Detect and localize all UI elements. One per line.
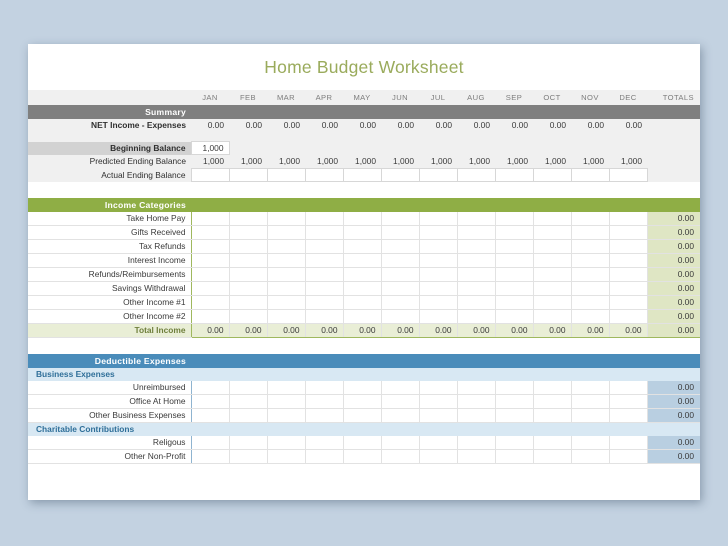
- income-input-feb[interactable]: [229, 268, 267, 282]
- income-input-aug[interactable]: [457, 296, 495, 310]
- summary-cell-jan[interactable]: [191, 169, 229, 182]
- income-input-nov[interactable]: [571, 268, 609, 282]
- summary-cell-mar: 0.00: [267, 119, 305, 132]
- income-row-total: 0.00: [647, 240, 700, 254]
- income-input-apr[interactable]: [305, 282, 343, 296]
- income-input-mar[interactable]: [267, 296, 305, 310]
- spacer-cell: [647, 182, 700, 199]
- income-input-jan[interactable]: [191, 212, 229, 226]
- income-input-may[interactable]: [343, 254, 381, 268]
- income-input-feb[interactable]: [229, 240, 267, 254]
- spacer-cell: [305, 132, 343, 142]
- expense-input-jan[interactable]: [191, 395, 229, 409]
- summary-cell-may: [343, 142, 381, 155]
- expense-input-mar[interactable]: [267, 450, 305, 464]
- spacer-cell: [533, 132, 571, 142]
- expense-subheader-row: Charitable Contributions: [28, 423, 700, 437]
- income-input-nov[interactable]: [571, 296, 609, 310]
- summary-cell-feb[interactable]: [229, 169, 267, 182]
- summary-cell-mar[interactable]: [267, 169, 305, 182]
- expense-input-may[interactable]: [343, 409, 381, 423]
- expense-row-total: 0.00: [647, 395, 700, 409]
- income-input-apr[interactable]: [305, 296, 343, 310]
- expense-input-sep[interactable]: [495, 450, 533, 464]
- expense-input-nov[interactable]: [571, 409, 609, 423]
- summary-cell-feb: 0.00: [229, 119, 267, 132]
- summary-cell-total: [647, 142, 700, 155]
- income-input-oct[interactable]: [533, 212, 571, 226]
- income-input-mar[interactable]: [267, 268, 305, 282]
- expense-input-aug[interactable]: [457, 395, 495, 409]
- income-input-jan[interactable]: [191, 282, 229, 296]
- expense-input-apr[interactable]: [305, 381, 343, 395]
- section-header-fill: [647, 105, 700, 119]
- page-title: Home Budget Worksheet: [264, 57, 463, 78]
- expense-input-jan[interactable]: [191, 436, 229, 450]
- income-input-dec[interactable]: [609, 212, 647, 226]
- income-input-may[interactable]: [343, 212, 381, 226]
- spacer-cell: [381, 338, 419, 355]
- income-input-sep[interactable]: [495, 226, 533, 240]
- income-input-oct[interactable]: [533, 296, 571, 310]
- income-input-apr[interactable]: [305, 226, 343, 240]
- income-input-oct[interactable]: [533, 282, 571, 296]
- income-input-feb[interactable]: [229, 282, 267, 296]
- income-input-jan[interactable]: [191, 310, 229, 324]
- expense-input-jun[interactable]: [381, 381, 419, 395]
- expense-subheader-fill: [191, 368, 229, 381]
- expense-subheader-fill: [419, 368, 457, 381]
- income-input-apr[interactable]: [305, 212, 343, 226]
- section-header-fill: [229, 105, 267, 119]
- income-input-dec[interactable]: [609, 282, 647, 296]
- column-header-apr: APR: [305, 90, 343, 105]
- expense-input-nov[interactable]: [571, 450, 609, 464]
- income-input-dec[interactable]: [609, 296, 647, 310]
- summary-row-label: NET Income - Expenses: [28, 119, 191, 132]
- income-input-feb[interactable]: [229, 254, 267, 268]
- summary-cell-aug[interactable]: [457, 169, 495, 182]
- income-input-may[interactable]: [343, 226, 381, 240]
- income-input-jan[interactable]: [191, 254, 229, 268]
- income-input-jan[interactable]: [191, 268, 229, 282]
- income-input-jun[interactable]: [381, 240, 419, 254]
- income-input-aug[interactable]: [457, 240, 495, 254]
- section-header-fill: [571, 354, 609, 368]
- income-input-may[interactable]: [343, 310, 381, 324]
- section-header-fill: [495, 354, 533, 368]
- expense-input-sep[interactable]: [495, 409, 533, 423]
- spacer-cell: [457, 338, 495, 355]
- income-row-label: Take Home Pay: [28, 212, 191, 226]
- summary-cell-aug: [457, 142, 495, 155]
- summary-cell-oct[interactable]: [533, 169, 571, 182]
- income-input-jun[interactable]: [381, 268, 419, 282]
- income-total-mar: 0.00: [267, 324, 305, 338]
- section-header-fill: [305, 198, 343, 212]
- summary-cell-mar: [267, 142, 305, 155]
- expense-input-sep[interactable]: [495, 395, 533, 409]
- expense-input-nov[interactable]: [571, 381, 609, 395]
- section-spacer: [28, 338, 700, 355]
- expense-input-jun[interactable]: [381, 395, 419, 409]
- income-row-total: 0.00: [647, 268, 700, 282]
- expense-input-feb[interactable]: [229, 381, 267, 395]
- expense-input-feb[interactable]: [229, 436, 267, 450]
- expense-row-label: Unreimbursed: [28, 381, 191, 395]
- spacer-cell: [609, 182, 647, 199]
- summary-cell-sep[interactable]: [495, 169, 533, 182]
- income-input-mar[interactable]: [267, 240, 305, 254]
- column-header-jun: JUN: [381, 90, 419, 105]
- expense-input-jun[interactable]: [381, 436, 419, 450]
- income-row: Gifts Received0.00: [28, 226, 700, 240]
- expense-input-oct[interactable]: [533, 450, 571, 464]
- expense-subheader-row: Business Expenses: [28, 368, 700, 381]
- income-row-total: 0.00: [647, 254, 700, 268]
- column-header-nov: NOV: [571, 90, 609, 105]
- spacer-cell: [191, 182, 229, 199]
- expense-input-nov[interactable]: [571, 436, 609, 450]
- expense-row-total: 0.00: [647, 381, 700, 395]
- income-row: Other Income #20.00: [28, 310, 700, 324]
- income-input-sep[interactable]: [495, 282, 533, 296]
- income-input-jul[interactable]: [419, 296, 457, 310]
- spacer-cell: [267, 182, 305, 199]
- income-input-jun[interactable]: [381, 212, 419, 226]
- expense-input-jan[interactable]: [191, 450, 229, 464]
- income-input-nov[interactable]: [571, 254, 609, 268]
- summary-cell-nov: 1,000: [571, 155, 609, 169]
- income-row-label: Refunds/Reimbursements: [28, 268, 191, 282]
- summary-cell-jul[interactable]: [419, 169, 457, 182]
- expense-row-total: 0.00: [647, 409, 700, 423]
- summary-cell-mar: 1,000: [267, 155, 305, 169]
- expense-input-apr[interactable]: [305, 436, 343, 450]
- expense-row: Office At Home0.00: [28, 395, 700, 409]
- income-input-oct[interactable]: [533, 268, 571, 282]
- income-input-jan[interactable]: [191, 226, 229, 240]
- summary-cell-feb: 1,000: [229, 155, 267, 169]
- summary-cell-nov: [571, 142, 609, 155]
- expense-row-label: Religous: [28, 436, 191, 450]
- income-input-may[interactable]: [343, 282, 381, 296]
- income-input-jul[interactable]: [419, 240, 457, 254]
- spacer-cell: [533, 182, 571, 199]
- expense-input-nov[interactable]: [571, 395, 609, 409]
- income-input-nov[interactable]: [571, 310, 609, 324]
- expense-input-oct[interactable]: [533, 395, 571, 409]
- expense-input-mar[interactable]: [267, 381, 305, 395]
- expense-input-apr[interactable]: [305, 409, 343, 423]
- section-header-fill: [419, 105, 457, 119]
- income-total-nov: 0.00: [571, 324, 609, 338]
- section-header-fill: [381, 105, 419, 119]
- spacer-cell: [609, 132, 647, 142]
- income-input-feb[interactable]: [229, 226, 267, 240]
- column-header-sep: SEP: [495, 90, 533, 105]
- expense-subheader-fill: [609, 368, 647, 381]
- summary-cell-jan[interactable]: 1,000: [191, 142, 229, 155]
- expense-subheader-fill: [533, 368, 571, 381]
- income-input-sep[interactable]: [495, 240, 533, 254]
- income-total-jan: 0.00: [191, 324, 229, 338]
- income-input-jul[interactable]: [419, 268, 457, 282]
- income-input-sep[interactable]: [495, 268, 533, 282]
- income-input-jul[interactable]: [419, 282, 457, 296]
- spacer-cell: [381, 132, 419, 142]
- expense-input-jul[interactable]: [419, 409, 457, 423]
- spacer-cell: [343, 338, 381, 355]
- section-header-fill: [647, 354, 700, 368]
- section-spacer: [28, 182, 700, 199]
- summary-cell-feb: [229, 142, 267, 155]
- expense-input-jan[interactable]: [191, 409, 229, 423]
- income-input-dec[interactable]: [609, 240, 647, 254]
- income-input-feb[interactable]: [229, 310, 267, 324]
- spacer-cell: [419, 338, 457, 355]
- spacer-cell: [267, 132, 305, 142]
- spacer-cell: [457, 182, 495, 199]
- expense-input-jun[interactable]: [381, 450, 419, 464]
- summary-row-label: Predicted Ending Balance: [28, 155, 191, 169]
- expense-row-total: 0.00: [647, 450, 700, 464]
- expense-input-mar[interactable]: [267, 409, 305, 423]
- income-input-nov[interactable]: [571, 226, 609, 240]
- income-input-apr[interactable]: [305, 254, 343, 268]
- summary-cell-total: [647, 155, 700, 169]
- section-header-fill: [343, 105, 381, 119]
- section-header-fill: [533, 198, 571, 212]
- section-header-summary-label: Summary: [28, 105, 191, 119]
- income-input-mar[interactable]: [267, 254, 305, 268]
- summary-row-predicted-ending-balance: Predicted Ending Balance1,0001,0001,0001…: [28, 155, 700, 169]
- income-total-jul: 0.00: [419, 324, 457, 338]
- income-input-nov[interactable]: [571, 240, 609, 254]
- summary-spacer: [28, 132, 700, 142]
- expense-input-jul[interactable]: [419, 381, 457, 395]
- expense-input-feb[interactable]: [229, 450, 267, 464]
- income-input-jun[interactable]: [381, 296, 419, 310]
- spacer-cell: [419, 182, 457, 199]
- income-input-sep[interactable]: [495, 296, 533, 310]
- column-header-jan: JAN: [191, 90, 229, 105]
- expense-input-may[interactable]: [343, 450, 381, 464]
- expense-input-aug[interactable]: [457, 381, 495, 395]
- income-row-total: 0.00: [647, 310, 700, 324]
- expense-row: Religous0.00: [28, 436, 700, 450]
- income-input-may[interactable]: [343, 268, 381, 282]
- income-input-sep[interactable]: [495, 254, 533, 268]
- income-total-may: 0.00: [343, 324, 381, 338]
- income-input-aug[interactable]: [457, 310, 495, 324]
- expense-input-oct[interactable]: [533, 381, 571, 395]
- expense-input-dec[interactable]: [609, 381, 647, 395]
- income-input-nov[interactable]: [571, 282, 609, 296]
- summary-cell-jun[interactable]: [381, 169, 419, 182]
- column-header-oct: OCT: [533, 90, 571, 105]
- section-header-fill: [343, 354, 381, 368]
- income-input-dec[interactable]: [609, 226, 647, 240]
- expense-subheader-fill: [495, 423, 533, 437]
- income-input-jul[interactable]: [419, 310, 457, 324]
- expense-input-mar[interactable]: [267, 436, 305, 450]
- section-header-fill: [647, 198, 700, 212]
- spacer-cell: [533, 338, 571, 355]
- summary-cell-aug: 0.00: [457, 119, 495, 132]
- income-row-label: Other Income #2: [28, 310, 191, 324]
- expense-input-aug[interactable]: [457, 409, 495, 423]
- summary-cell-apr[interactable]: [305, 169, 343, 182]
- income-input-jul[interactable]: [419, 254, 457, 268]
- section-header-fill: [609, 198, 647, 212]
- summary-cell-jul: 1,000: [419, 155, 457, 169]
- income-input-apr[interactable]: [305, 240, 343, 254]
- spacer-cell: [381, 182, 419, 199]
- expense-input-jul[interactable]: [419, 395, 457, 409]
- income-row-label: Tax Refunds: [28, 240, 191, 254]
- expense-subheader-fill: [305, 423, 343, 437]
- summary-cell-dec[interactable]: [609, 169, 647, 182]
- income-input-mar[interactable]: [267, 282, 305, 296]
- expense-subheader-fill: [457, 423, 495, 437]
- expense-input-mar[interactable]: [267, 395, 305, 409]
- expense-row: Other Business Expenses0.00: [28, 409, 700, 423]
- expense-input-sep[interactable]: [495, 436, 533, 450]
- income-input-jan[interactable]: [191, 240, 229, 254]
- income-input-apr[interactable]: [305, 310, 343, 324]
- spacer-cell: [343, 132, 381, 142]
- spacer-cell: [419, 132, 457, 142]
- spacer-cell: [229, 132, 267, 142]
- expense-row: Unreimbursed0.00: [28, 381, 700, 395]
- summary-cell-jun: [381, 142, 419, 155]
- income-input-oct[interactable]: [533, 310, 571, 324]
- spacer-cell: [28, 338, 191, 355]
- section-header-fill: [419, 198, 457, 212]
- income-input-oct[interactable]: [533, 226, 571, 240]
- expense-input-oct[interactable]: [533, 409, 571, 423]
- spacer-cell: [495, 338, 533, 355]
- section-header-fill: [495, 198, 533, 212]
- summary-cell-may: 1,000: [343, 155, 381, 169]
- expense-input-aug[interactable]: [457, 450, 495, 464]
- expense-input-may[interactable]: [343, 381, 381, 395]
- income-input-jun[interactable]: [381, 254, 419, 268]
- expense-input-may[interactable]: [343, 436, 381, 450]
- income-input-dec[interactable]: [609, 268, 647, 282]
- section-header-fill: [495, 105, 533, 119]
- expense-input-jul[interactable]: [419, 436, 457, 450]
- expense-input-dec[interactable]: [609, 436, 647, 450]
- expense-input-jul[interactable]: [419, 450, 457, 464]
- expense-input-apr[interactable]: [305, 450, 343, 464]
- income-input-nov[interactable]: [571, 212, 609, 226]
- summary-cell-nov[interactable]: [571, 169, 609, 182]
- income-input-dec[interactable]: [609, 254, 647, 268]
- income-input-feb[interactable]: [229, 296, 267, 310]
- income-input-jul[interactable]: [419, 226, 457, 240]
- income-input-jun[interactable]: [381, 282, 419, 296]
- income-input-feb[interactable]: [229, 212, 267, 226]
- income-row: Tax Refunds0.00: [28, 240, 700, 254]
- expense-input-dec[interactable]: [609, 395, 647, 409]
- title-band: Home Budget Worksheet: [28, 44, 700, 90]
- column-header-mar: MAR: [267, 90, 305, 105]
- income-input-aug[interactable]: [457, 212, 495, 226]
- expense-input-jun[interactable]: [381, 409, 419, 423]
- expense-input-apr[interactable]: [305, 395, 343, 409]
- section-header-fill: [609, 105, 647, 119]
- expense-subheader-fill: [381, 423, 419, 437]
- income-input-apr[interactable]: [305, 268, 343, 282]
- expense-subheader-fill: [571, 423, 609, 437]
- income-input-may[interactable]: [343, 296, 381, 310]
- section-header-fill: [457, 198, 495, 212]
- spacer-cell: [495, 132, 533, 142]
- income-input-sep[interactable]: [495, 310, 533, 324]
- income-row-label: Other Income #1: [28, 296, 191, 310]
- expense-subheader-fill: [571, 368, 609, 381]
- income-input-jul[interactable]: [419, 212, 457, 226]
- income-input-jun[interactable]: [381, 310, 419, 324]
- income-input-may[interactable]: [343, 240, 381, 254]
- income-input-mar[interactable]: [267, 212, 305, 226]
- column-header-dec: DEC: [609, 90, 647, 105]
- expense-input-oct[interactable]: [533, 436, 571, 450]
- expense-input-feb[interactable]: [229, 395, 267, 409]
- section-header-fill: [191, 105, 229, 119]
- spacer-cell: [457, 132, 495, 142]
- income-row-total: 0.00: [647, 282, 700, 296]
- expense-input-may[interactable]: [343, 395, 381, 409]
- summary-cell-apr: 1,000: [305, 155, 343, 169]
- section-header-fill: [305, 354, 343, 368]
- income-input-oct[interactable]: [533, 254, 571, 268]
- income-input-mar[interactable]: [267, 310, 305, 324]
- summary-cell-sep: 1,000: [495, 155, 533, 169]
- section-header-fill: [267, 198, 305, 212]
- expense-subheader-fill: [495, 368, 533, 381]
- income-row: Interest Income0.00: [28, 254, 700, 268]
- income-row-total: 0.00: [647, 212, 700, 226]
- summary-cell-may[interactable]: [343, 169, 381, 182]
- expense-input-feb[interactable]: [229, 409, 267, 423]
- expense-input-dec[interactable]: [609, 409, 647, 423]
- income-input-dec[interactable]: [609, 310, 647, 324]
- income-input-oct[interactable]: [533, 240, 571, 254]
- income-input-aug[interactable]: [457, 268, 495, 282]
- expense-input-aug[interactable]: [457, 436, 495, 450]
- income-input-aug[interactable]: [457, 254, 495, 268]
- income-input-sep[interactable]: [495, 212, 533, 226]
- spacer-cell: [191, 338, 229, 355]
- expense-input-jan[interactable]: [191, 381, 229, 395]
- income-input-mar[interactable]: [267, 226, 305, 240]
- section-header-fill: [571, 105, 609, 119]
- expense-row-total: 0.00: [647, 436, 700, 450]
- summary-cell-may: 0.00: [343, 119, 381, 132]
- expense-input-dec[interactable]: [609, 450, 647, 464]
- income-input-aug[interactable]: [457, 282, 495, 296]
- income-input-jan[interactable]: [191, 296, 229, 310]
- expense-input-sep[interactable]: [495, 381, 533, 395]
- income-total-label: Total Income: [28, 324, 191, 338]
- income-input-jun[interactable]: [381, 226, 419, 240]
- spacer-cell: [28, 182, 191, 199]
- income-input-aug[interactable]: [457, 226, 495, 240]
- expense-row-label: Other Non-Profit: [28, 450, 191, 464]
